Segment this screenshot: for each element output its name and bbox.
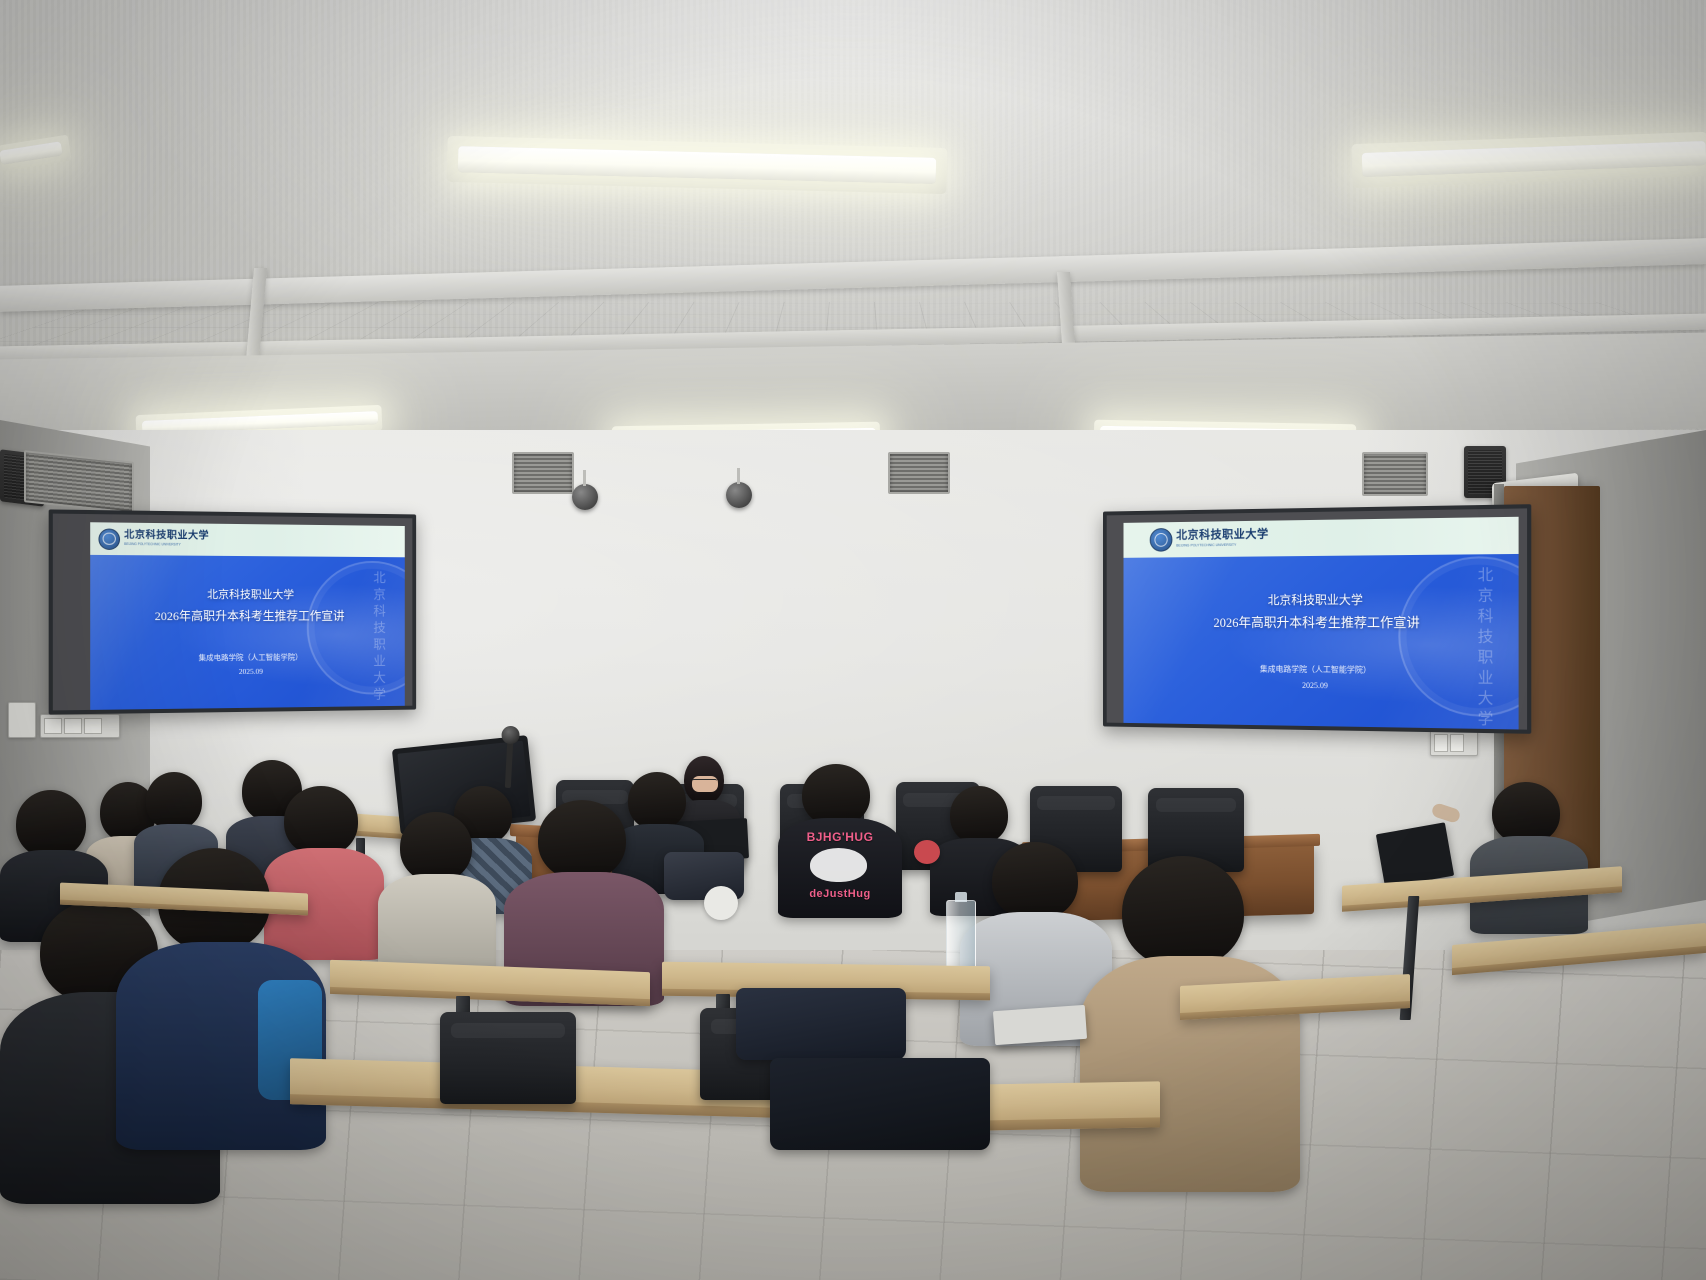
red-object-on-desk	[914, 840, 940, 864]
audience-member	[1470, 782, 1588, 932]
security-camera-right	[726, 482, 752, 508]
left-slide-header: 北京科技职业大学 BEIJING POLYTECHNIC UNIVERSITY	[90, 522, 405, 557]
left-slide-title-line2: 2026年高职升本科考生推荐工作宣讲	[90, 608, 405, 626]
audience-head	[400, 812, 472, 882]
water-bottle	[946, 900, 976, 976]
audience-head	[16, 790, 86, 858]
right-slide-logo: 北京科技职业大学 BEIJING POLYTECHNIC UNIVERSITY	[1150, 527, 1269, 552]
security-camera-left	[572, 484, 598, 510]
notebook-on-desk	[993, 1005, 1087, 1045]
audience-hoodie: BJHG'HUG deJustHug	[778, 818, 902, 918]
wall-control-panel-right[interactable]	[1430, 730, 1478, 756]
jacket-rabbit-graphic	[810, 848, 867, 882]
audience-head	[1492, 782, 1560, 844]
right-logo-cn: 北京科技职业大学	[1176, 530, 1268, 543]
right-logo-en: BEIJING POLYTECHNIC UNIVERSITY	[1176, 543, 1268, 548]
white-plush-charm	[704, 886, 738, 920]
jacket-print-line2: deJustHug	[778, 888, 902, 900]
right-slide-subtitle: 集成电路学院（人工智能学院）	[1123, 663, 1518, 678]
jacket-print-line1: BJHG'HUG	[778, 830, 902, 844]
audience-head	[802, 764, 870, 826]
air-vent-center-left	[512, 452, 574, 494]
university-seal-icon	[98, 528, 120, 550]
audience-member-foreground	[1080, 856, 1300, 1186]
right-screen-surface: 北京科技职业大学 BEIJING POLYTECHNIC UNIVERSITY …	[1107, 508, 1527, 729]
audience-member-printed-hoodie: BJHG'HUG deJustHug	[778, 764, 902, 916]
audience-head	[538, 800, 626, 880]
air-vent-center-right	[888, 452, 950, 494]
air-vent-right	[1362, 452, 1428, 496]
wall-control-panel-strip[interactable]	[40, 714, 120, 738]
audience-head	[1122, 856, 1244, 968]
left-slide-logo: 北京科技职业大学 BEIJING POLYTECHNIC UNIVERSITY	[98, 528, 209, 550]
right-projection-screen[interactable]: 北京科技职业大学 BEIJING POLYTECHNIC UNIVERSITY …	[1103, 504, 1531, 734]
wall-control-panel-left[interactable]	[8, 702, 36, 738]
left-slide: 北京科技职业大学 BEIJING POLYTECHNIC UNIVERSITY …	[90, 522, 405, 710]
audience-head	[284, 786, 358, 856]
right-slide-title-line2: 2026年高职升本科考生推荐工作宣讲	[1123, 614, 1518, 633]
right-slide-header: 北京科技职业大学 BEIJING POLYTECHNIC UNIVERSITY	[1123, 517, 1518, 558]
audience-head	[992, 842, 1078, 920]
audience-head	[950, 786, 1008, 844]
right-slide-body: 北京科技职业大学 北京科技职业大学 2026年高职升本科考生推荐工作宣讲 集成电…	[1123, 554, 1518, 730]
black-office-chair[interactable]	[440, 1012, 576, 1104]
right-slide: 北京科技职业大学 BEIJING POLYTECHNIC UNIVERSITY …	[1123, 517, 1518, 730]
left-slide-title-line1: 北京科技职业大学	[90, 588, 405, 605]
lecture-hall-photo: 北京科技职业大学 BEIJING POLYTECHNIC UNIVERSITY …	[0, 0, 1706, 1280]
left-projection-screen[interactable]: 北京科技职业大学 BEIJING POLYTECHNIC UNIVERSITY …	[49, 509, 416, 714]
left-logo-en: BEIJING POLYTECHNIC UNIVERSITY	[124, 543, 209, 547]
backpack-on-desk	[770, 1058, 990, 1150]
left-screen-surface: 北京科技职业大学 BEIJING POLYTECHNIC UNIVERSITY …	[53, 514, 413, 711]
audience-head	[146, 772, 202, 830]
right-slide-date: 2025.09	[1123, 678, 1518, 694]
left-slide-subtitle: 集成电路学院（人工智能学院）	[90, 651, 405, 664]
right-slide-title-line1: 北京科技职业大学	[1123, 591, 1518, 610]
left-logo-cn: 北京科技职业大学	[124, 531, 209, 542]
left-slide-body: 北京科技职业大学 北京科技职业大学 2026年高职升本科考生推荐工作宣讲 集成电…	[90, 555, 405, 710]
backpack-on-desk	[736, 988, 906, 1060]
audience-member	[378, 812, 496, 978]
university-seal-icon	[1150, 528, 1173, 552]
